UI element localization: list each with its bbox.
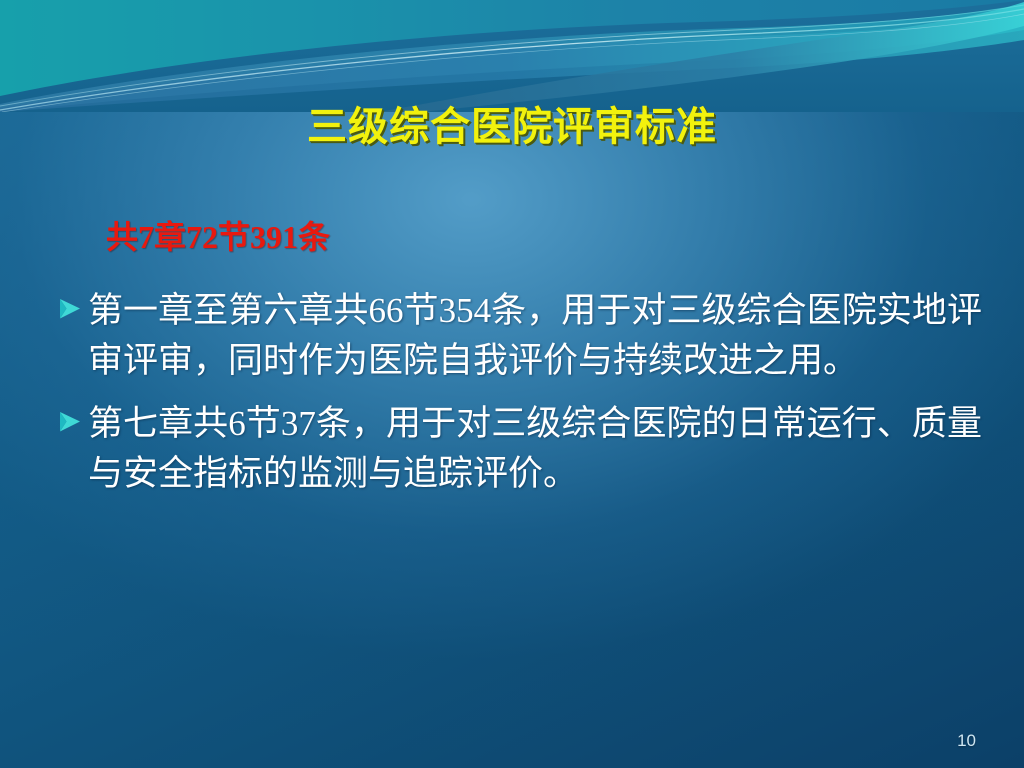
list-item-text: 第七章共6节37条，用于对三级综合医院的日常运行、质量与安全指标的监测与追踪评价… bbox=[88, 399, 982, 498]
page-title: 三级综合医院评审标准 bbox=[307, 104, 717, 150]
sub-heading: 共7章72节391条 bbox=[106, 218, 330, 256]
title-block: 三级综合医院评审标准 bbox=[0, 104, 1024, 150]
header-wave-graphic bbox=[0, 0, 1024, 112]
list-item: 第七章共6节37条，用于对三级综合医院的日常运行、质量与安全指标的监测与追踪评价… bbox=[58, 399, 982, 498]
chevron-arrow-bullet-icon bbox=[58, 399, 88, 433]
body-bullet-list: 第一章至第六章共66节354条，用于对三级综合医院实地评审评审，同时作为医院自我… bbox=[58, 286, 982, 513]
list-item-text: 第一章至第六章共66节354条，用于对三级综合医院实地评审评审，同时作为医院自我… bbox=[88, 286, 982, 385]
slide-canvas: 三级综合医院评审标准 共7章72节391条 第一章至第六章共66节354条，用于… bbox=[0, 0, 1024, 768]
page-number: 10 bbox=[957, 731, 976, 751]
list-item: 第一章至第六章共66节354条，用于对三级综合医院实地评审评审，同时作为医院自我… bbox=[58, 286, 982, 385]
chevron-arrow-bullet-icon bbox=[58, 286, 88, 320]
